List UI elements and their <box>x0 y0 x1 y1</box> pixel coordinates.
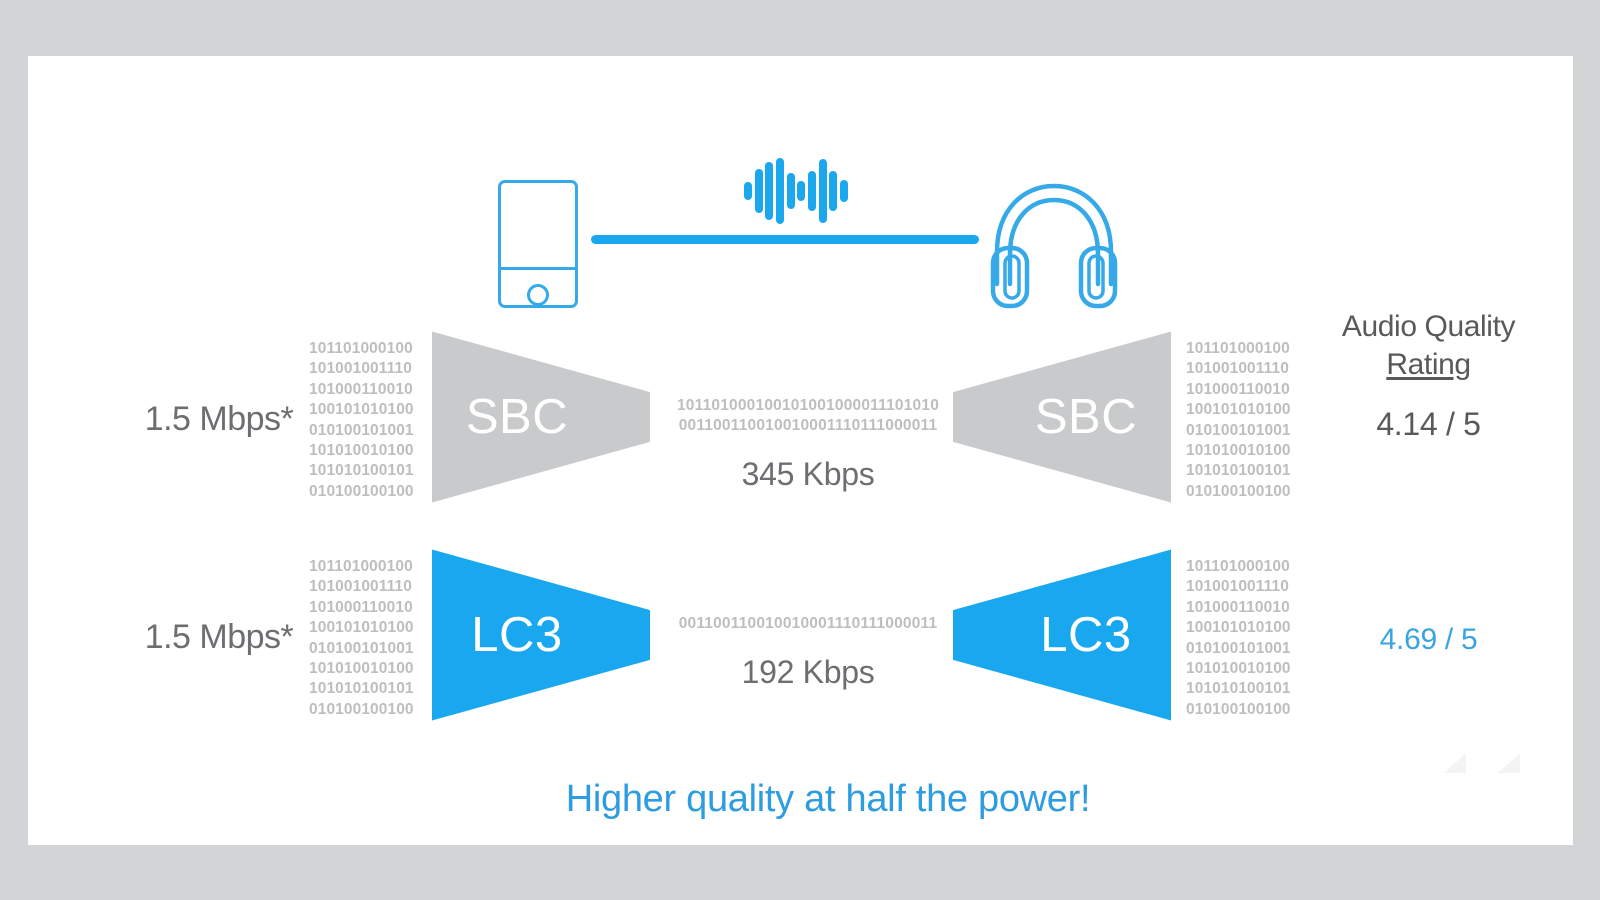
audio-quality-rating-sbc: 4.14 / 5 <box>1321 406 1536 443</box>
waveform-bar-6 <box>797 181 805 201</box>
input-bitstream-sbc: 101101000100 101001001110 101000110010 1… <box>309 339 414 502</box>
encoder-lc3: LC3 <box>432 546 650 724</box>
corner-artifact-icon <box>1498 753 1520 773</box>
diagram-card: 1.5 Mbps* 101101000100 101001001110 1010… <box>28 56 1573 845</box>
encoder-label-lc3: LC3 <box>471 607 562 663</box>
waveform-bar-4 <box>776 158 784 224</box>
output-bitstream-lc3: 101101000100 101001001110 101000110010 1… <box>1186 557 1291 720</box>
waveform-bar-5 <box>787 173 795 209</box>
input-bitrate-lc3: 1.5 Mbps* <box>124 618 314 657</box>
encoder-label-sbc: SBC <box>466 389 568 445</box>
waveform-bar-8 <box>819 159 827 223</box>
headphones-icon <box>981 174 1127 314</box>
compressed-bitstream-lc3: 001100110010010001110111000011 <box>628 614 988 634</box>
waveform-bar-9 <box>829 171 837 211</box>
audio-quality-rating-lc3: 4.69 / 5 <box>1321 623 1536 657</box>
waveform-bar-2 <box>755 169 763 213</box>
decoder-lc3: LC3 <box>953 546 1171 724</box>
compressed-stream-sbc: 101101000100101001000011101010 001100110… <box>628 396 988 493</box>
decoder-sbc: SBC <box>953 328 1171 506</box>
corner-artifact-icon <box>1444 753 1466 773</box>
audio-quality-heading-line2: Rating <box>1321 346 1536 384</box>
smartphone-screen-divider <box>501 267 575 270</box>
compressed-bitstream-sbc: 101101000100101001000011101010 001100110… <box>628 396 988 436</box>
tagline: Higher quality at half the power! <box>28 778 1600 821</box>
compressed-bitrate-lc3: 192 Kbps <box>628 654 988 691</box>
input-bitstream-lc3: 101101000100 101001001110 101000110010 1… <box>309 557 414 720</box>
output-bitstream-sbc: 101101000100 101001001110 101000110010 1… <box>1186 339 1291 502</box>
smartphone-home-button-icon <box>527 284 549 306</box>
waveform-bar-7 <box>808 171 816 211</box>
input-bitrate-sbc: 1.5 Mbps* <box>124 400 314 439</box>
bluetooth-link-line <box>591 235 979 244</box>
decoder-label-lc3: LC3 <box>1040 607 1131 663</box>
audio-waveform-icon <box>744 158 848 224</box>
waveform-bar-10 <box>840 180 848 202</box>
encoder-sbc: SBC <box>432 328 650 506</box>
compressed-stream-lc3: 001100110010010001110111000011 192 Kbps <box>628 614 988 691</box>
audio-quality-heading-line1: Audio Quality <box>1321 308 1536 346</box>
waveform-bar-3 <box>765 162 773 220</box>
compressed-bitrate-sbc: 345 Kbps <box>628 456 988 493</box>
waveform-bar-1 <box>744 182 752 200</box>
smartphone-icon <box>498 180 578 308</box>
audio-quality-heading: Audio Quality Rating <box>1321 308 1536 384</box>
diagram-canvas: 1.5 Mbps* 101101000100 101001001110 1010… <box>0 0 1600 900</box>
decoder-label-sbc: SBC <box>1035 389 1137 445</box>
